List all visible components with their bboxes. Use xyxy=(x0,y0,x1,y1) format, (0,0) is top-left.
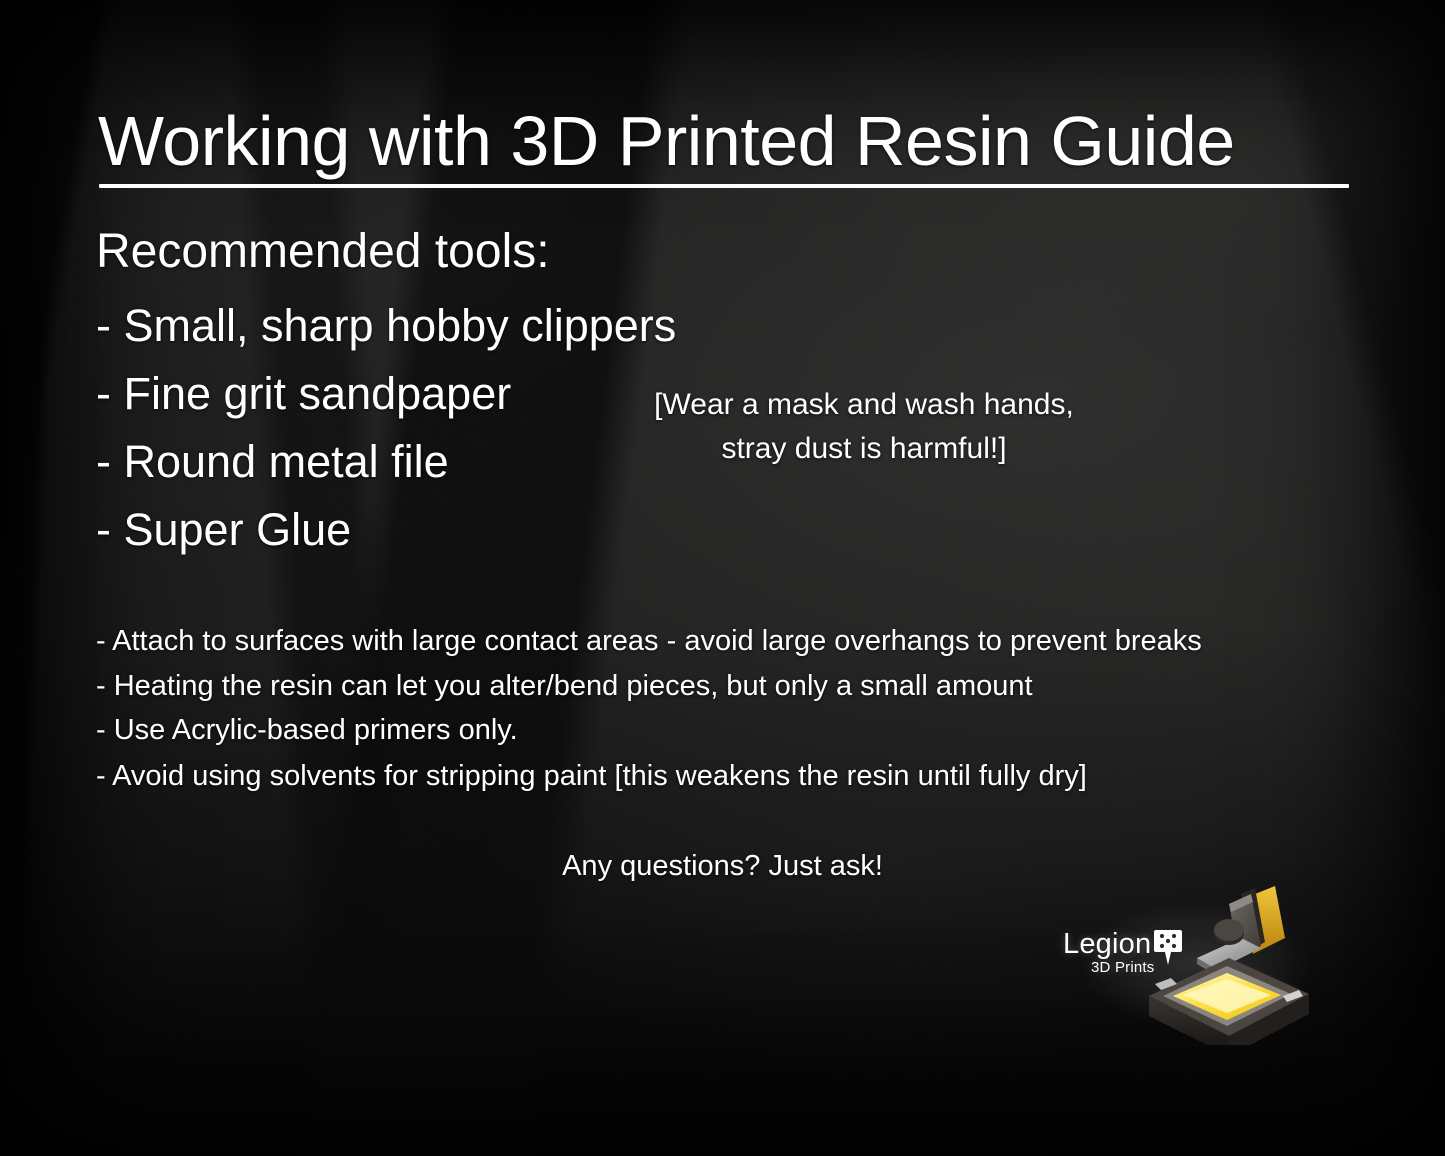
tip-list-item: - Heating the resin can let you alter/be… xyxy=(96,672,1033,701)
title-underline xyxy=(99,184,1349,188)
safety-warning-line-1: [Wear a mask and wash hands, xyxy=(654,388,1074,421)
tip-list-item: - Attach to surfaces with large contact … xyxy=(96,627,1202,656)
recommended-tools-heading: Recommended tools: xyxy=(96,228,550,276)
tool-list-item: - Small, sharp hobby clippers xyxy=(96,303,676,348)
safety-warning-line-2: stray dust is harmful!] xyxy=(604,427,1124,471)
tool-list-item: - Round metal file xyxy=(96,439,449,484)
tool-list-item: - Super Glue xyxy=(96,507,351,552)
closing-line: Any questions? Just ask! xyxy=(0,852,1445,881)
page-title: Working with 3D Printed Resin Guide xyxy=(98,106,1235,176)
slide-canvas: Working with 3D Printed Resin Guide Reco… xyxy=(0,0,1445,1156)
dice-pin-icon xyxy=(1153,928,1183,968)
legion-3d-prints-logo: Legion 3D Prints xyxy=(1055,885,1325,1045)
tip-list-item: - Avoid using solvents for stripping pai… xyxy=(96,762,1087,791)
tool-list-item: - Fine grit sandpaper xyxy=(96,371,511,416)
safety-warning-note: [Wear a mask and wash hands, stray dust … xyxy=(604,383,1124,471)
tip-list-item: - Use Acrylic-based primers only. xyxy=(96,716,518,745)
